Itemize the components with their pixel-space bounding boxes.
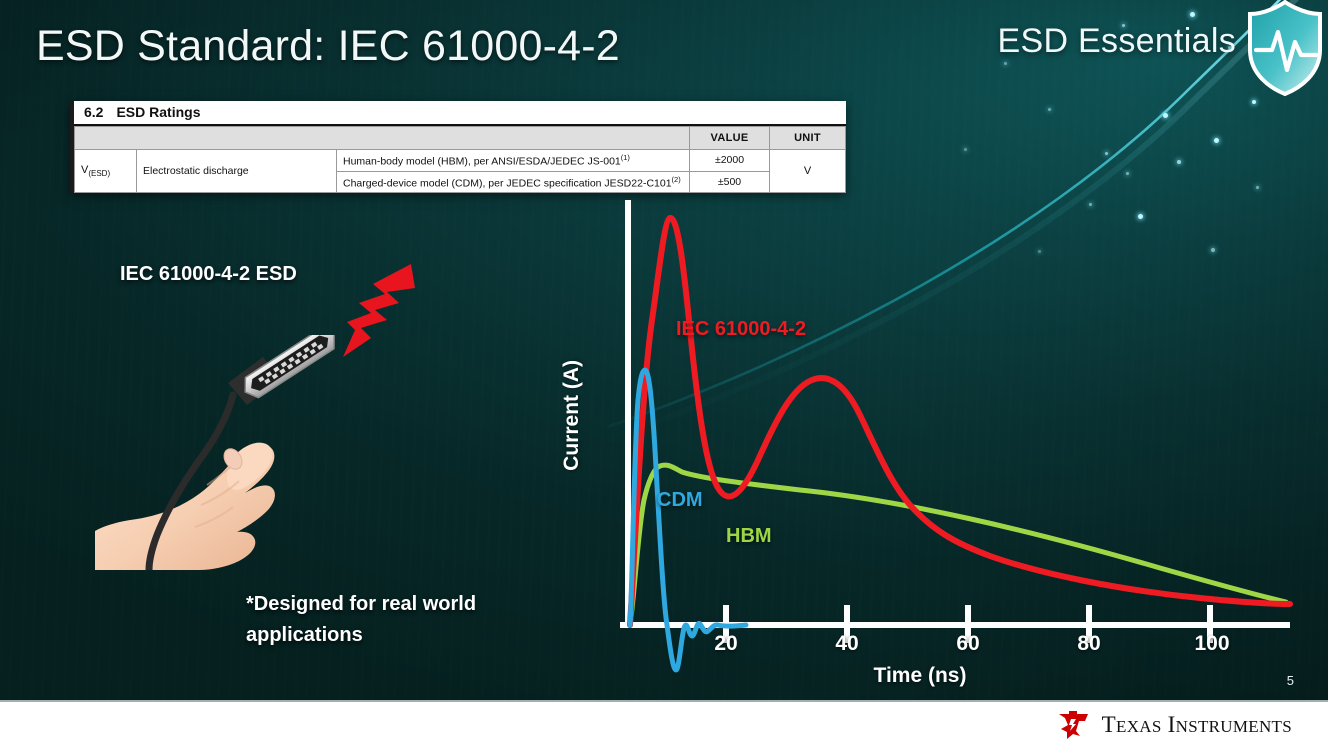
table-header-unit: UNIT	[770, 127, 846, 150]
page-title: ESD Standard: IEC 61000-4-2	[36, 22, 620, 71]
description-cell-cdm: Charged-device model (CDM), per JEDEC sp…	[337, 171, 690, 193]
chart-x-axis-label: Time (ns)	[874, 664, 967, 688]
esd-illustration-caption: IEC 61000-4-2 ESD	[120, 263, 297, 286]
section-number: 6.2	[84, 104, 103, 120]
cdm-description: Charged-device model (CDM), per JEDEC sp…	[343, 177, 672, 189]
table-header-blank	[75, 127, 690, 150]
chart-x-tick-100: 100	[1194, 632, 1229, 656]
chart-annotation-hbm: HBM	[726, 525, 772, 548]
chart-x-tick-80: 80	[1077, 632, 1100, 656]
value-cell-cdm: ±500	[690, 171, 770, 193]
hbm-footnote: (1)	[621, 153, 630, 162]
value-cell-hbm: ±2000	[690, 150, 770, 172]
ti-word-t: T	[1102, 712, 1116, 737]
slide-footer: TEXAS INSTRUMENTS	[0, 700, 1328, 746]
table-row: V(ESD) Electrostatic discharge Human-bod…	[75, 150, 846, 172]
real-world-note: *Designed for real world applications	[246, 589, 546, 651]
table-header-value: VALUE	[690, 127, 770, 150]
hand-with-connector-illustration	[95, 335, 435, 570]
chart-x-tick-60: 60	[956, 632, 979, 656]
unit-cell: V	[770, 150, 846, 193]
ti-word-nstruments: NSTRUMENTS	[1176, 717, 1292, 736]
ti-texas-mark-icon	[1055, 710, 1091, 740]
section-title: ESD Ratings	[116, 104, 200, 120]
chart-annotation-cdm: CDM	[657, 489, 703, 512]
shield-icon	[1242, 0, 1328, 104]
ti-word-exas: EXAS	[1116, 717, 1162, 736]
chart-x-tick-20: 20	[714, 632, 737, 656]
ti-wordmark: TEXAS INSTRUMENTS	[1102, 712, 1292, 738]
brand-label: ESD Essentials	[997, 22, 1236, 61]
parameter-cell: Electrostatic discharge	[137, 150, 337, 193]
esd-waveform-chart	[560, 200, 1300, 700]
hbm-description: Human-body model (HBM), per ANSI/ESDA/JE…	[343, 156, 621, 168]
cdm-footnote: (2)	[672, 175, 681, 184]
esd-ratings-table: 6.2ESD Ratings VALUE UNIT V(ESD) Electro…	[70, 101, 846, 193]
table-section-header: 6.2ESD Ratings	[74, 101, 846, 126]
texas-instruments-logo: TEXAS INSTRUMENTS	[1055, 710, 1292, 740]
slide-canvas: ESD Standard: IEC 61000-4-2 ESD Essentia…	[0, 0, 1328, 746]
chart-x-tick-40: 40	[835, 632, 858, 656]
page-number: 5	[1287, 673, 1294, 688]
table-header-row: VALUE UNIT	[75, 127, 846, 150]
chart-annotation-iec: IEC 61000-4-2	[676, 318, 806, 341]
chart-series-iec	[630, 218, 1290, 625]
ti-word-i: I	[1168, 712, 1176, 737]
symbol-cell: V(ESD)	[75, 150, 137, 193]
symbol-subscript: (ESD)	[88, 169, 110, 178]
description-cell-hbm: Human-body model (HBM), per ANSI/ESDA/JE…	[337, 150, 690, 172]
